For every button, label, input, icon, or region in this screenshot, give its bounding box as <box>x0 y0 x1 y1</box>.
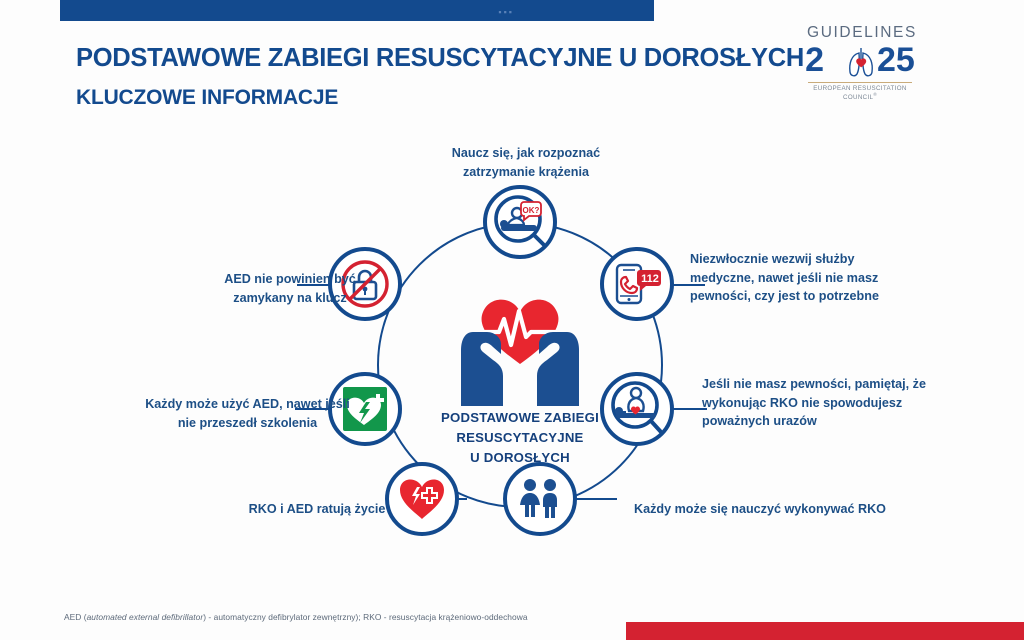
magnifier-unresponsive-person-icon: OK? <box>491 193 549 251</box>
node-anyone-can-learn-cpr[interactable] <box>503 462 577 536</box>
label-cpr-aed-save-lives: RKO i AED ratują życie <box>232 500 402 519</box>
logo-guidelines-text: GUIDELINES <box>806 24 918 42</box>
footnote-italic: automated external defibrillator <box>87 612 204 622</box>
topbar-dots: ▪▪▪ <box>498 7 514 17</box>
logo-year-left: 2 <box>805 41 824 79</box>
phone-112-icon: 112 <box>610 257 664 311</box>
magnifier-cpr-icon <box>608 380 666 438</box>
heart-bolt-cross-icon <box>396 473 448 525</box>
footnote-part2: ) - automatyczny defibrylator zewnętrzny… <box>203 612 527 622</box>
node-cpr-aed-save-lives[interactable] <box>385 462 459 536</box>
label-recognise-cardiac-arrest: Naucz się, jak rozpoznać zatrzymanie krą… <box>416 144 636 181</box>
label-call-emergency-services: Niezwłocznie wezwij służby medyczne, naw… <box>690 250 920 306</box>
footnote-part1: AED ( <box>64 612 87 622</box>
connector-bottom-right <box>573 498 617 500</box>
label-anyone-can-use-aed: Każdy może użyć AED, nawet jeśli nie prz… <box>140 395 355 432</box>
page-title: PODSTAWOWE ZABIEGI RESUSCYTACYJNE U DORO… <box>76 44 804 73</box>
erc-logo: GUIDELINES 2OO25 EUROPEAN RESUSCITATION … <box>800 24 920 98</box>
logo-council-text: EUROPEAN RESUSCITATION COUNCIL® <box>800 85 920 101</box>
node-cpr-no-serious-harm[interactable] <box>600 372 674 446</box>
top-decorative-bar: ▪▪▪ <box>60 0 654 21</box>
footnote-abbreviations: AED (automated external defibrillator) -… <box>64 612 528 622</box>
lungs-heart-icon <box>846 44 878 80</box>
bls-wheel: PODSTAWOWE ZABIEGI RESUSCYTACYJNE U DORO… <box>355 180 685 555</box>
label-cpr-no-serious-harm: Jeśli nie masz pewności, pamiętaj, że wy… <box>702 375 934 431</box>
node-call-emergency-services[interactable]: 112 <box>600 247 674 321</box>
center-label-line2: RESUSCYTACYJNE <box>405 428 635 448</box>
page-subtitle: KLUCZOWE INFORMACJE <box>76 86 338 110</box>
svg-text:112: 112 <box>641 273 659 285</box>
bottom-red-bar <box>626 622 1024 640</box>
infographic-page: ▪▪▪ PODSTAWOWE ZABIEGI RESUSCYTACYJNE U … <box>0 0 1024 640</box>
node-recognise-cardiac-arrest[interactable]: OK? <box>483 185 557 259</box>
logo-divider <box>808 82 912 83</box>
center-label-line3: U DOROSŁYCH <box>405 448 635 468</box>
heart-in-hands-icon <box>443 280 597 412</box>
logo-year-right: 25 <box>877 41 915 79</box>
svg-text:OK?: OK? <box>523 206 540 215</box>
label-anyone-can-learn-cpr: Każdy może się nauczyć wykonywać RKO <box>634 500 924 519</box>
label-aed-not-locked: AED nie powinien być zamykany na klucz <box>200 270 380 307</box>
two-people-icon <box>515 474 565 524</box>
